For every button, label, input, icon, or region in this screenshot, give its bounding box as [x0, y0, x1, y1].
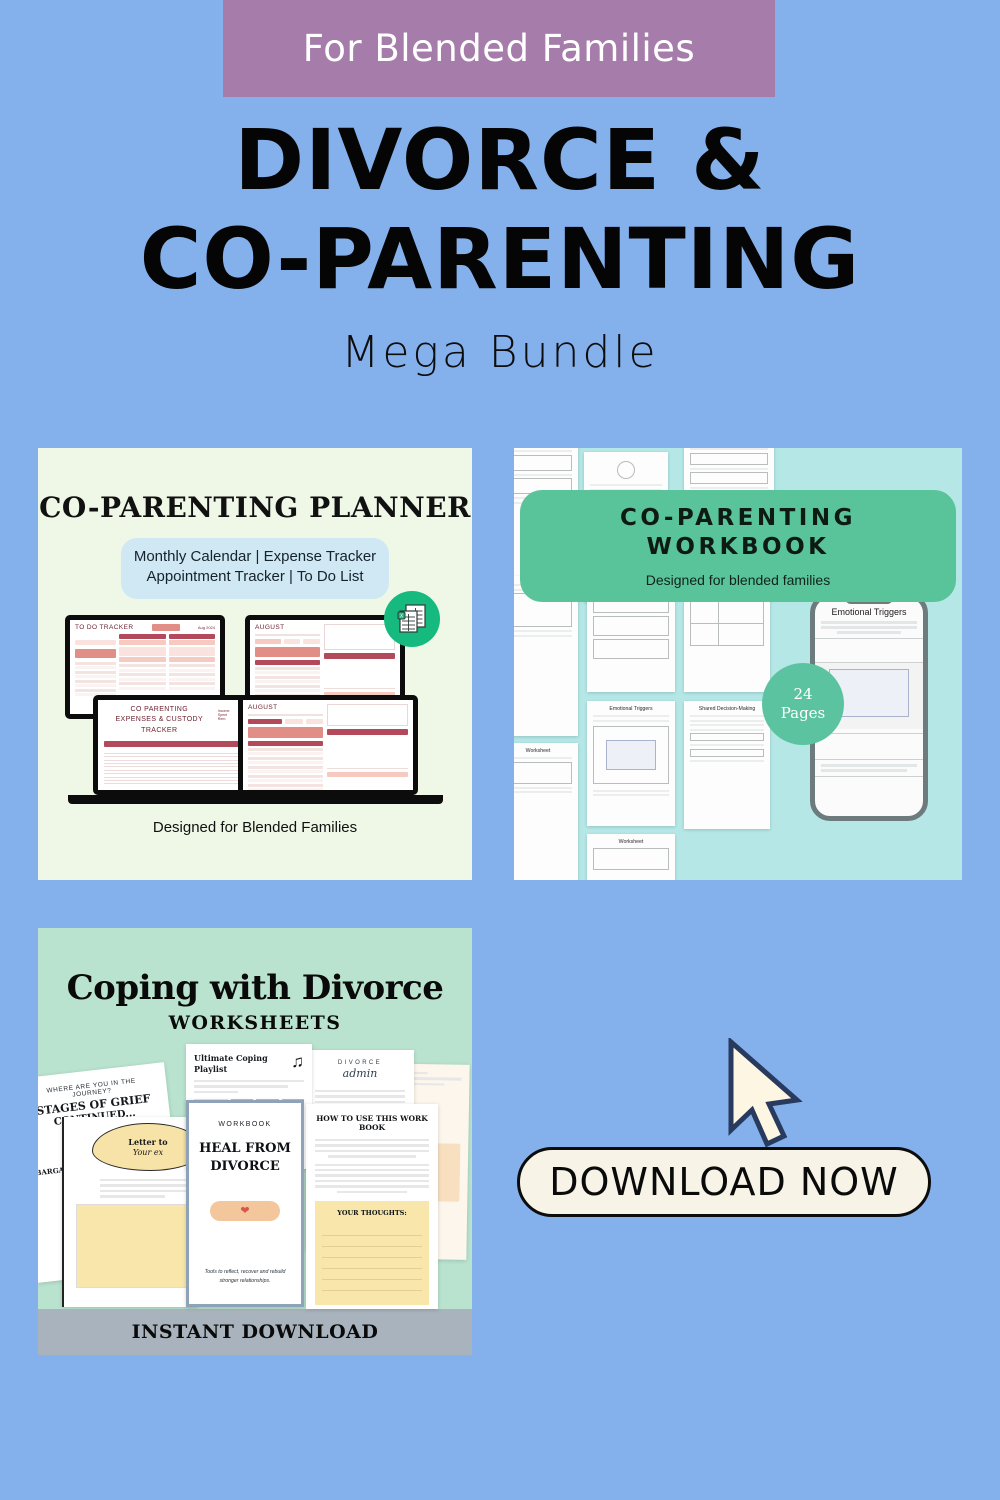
worksheet-page-shared-decision-making: Shared Decision-Making	[684, 701, 770, 829]
workbook-title: CO-PARENTING WORKBOOK	[620, 504, 856, 562]
coping-page-letter-to-your-ex: Letter to Your ex	[62, 1117, 198, 1307]
expense-tracker-heading: CO PARENTINGEXPENSES & CUSTODYTRACKER	[104, 705, 215, 737]
workbook-banner: CO-PARENTING WORKBOOK Designed for blend…	[520, 490, 956, 602]
product-card-planner[interactable]: CO-PARENTING PLANNER Monthly Calendar | …	[38, 448, 472, 880]
coping-footer-badge: INSTANT DOWNLOAD	[38, 1309, 472, 1355]
playlist-title-line-1: Ultimate Coping	[194, 1053, 268, 1063]
product-card-workbook[interactable]: Active Listening Emotional Triggers Work…	[514, 448, 962, 880]
title-line-2: CO-PARENTING	[0, 219, 1000, 300]
admin-title-line-1: DIVORCE	[315, 1060, 405, 1066]
planner-title: CO-PARENTING PLANNER	[38, 491, 472, 524]
page-title-shared-decision: Shared Decision-Making	[690, 706, 764, 712]
download-cta[interactable]: DOWNLOAD NOW	[517, 1147, 931, 1217]
workbook-title-line-2: WORKBOOK	[647, 534, 830, 560]
planner-feature-pill: Monthly Calendar | Expense Tracker Appoi…	[121, 538, 389, 599]
coping-sheet-stack: DIVORCE admin WHERE ARE YOU IN THE JOURN…	[38, 1042, 472, 1307]
eyebrow-banner: For Blended Families	[223, 0, 775, 97]
heal-tagline-line-1: Tools to reflect, recover and rebuild	[205, 1269, 286, 1275]
product-card-coping[interactable]: Coping with Divorce WORKSHEETS DIVORCE a…	[38, 928, 472, 1355]
coping-title: Coping with Divorce	[38, 968, 472, 1008]
pages-badge-label: Pages	[781, 704, 826, 723]
eyebrow-text: For Blended Families	[303, 27, 695, 70]
music-note-icon: ♫	[291, 1053, 304, 1070]
letter-cloud-line-2: Your ex	[133, 1148, 163, 1157]
page-title-worksheet: Worksheet	[514, 748, 572, 754]
worksheet-page: Worksheet	[514, 743, 578, 880]
laptop-base	[213, 795, 443, 804]
planner-feature-line-1: Monthly Calendar | Expense Tracker	[131, 547, 379, 567]
laptop-mockup-august-calendar-bottom: AUGUST	[238, 695, 418, 795]
letter-cloud: Letter to Your ex	[92, 1123, 198, 1171]
planner-feature-line-2: Appointment Tracker | To Do List	[131, 567, 379, 587]
worksheet-page-emotional-triggers: Emotional Triggers	[587, 701, 675, 826]
workbook-title-line-1: CO-PARENTING	[620, 505, 856, 531]
pages-count-badge: 24 Pages	[762, 663, 844, 745]
pages-badge-number: 24	[793, 685, 812, 704]
playlist-title-line-2: Playlist	[194, 1064, 268, 1074]
heal-title-line-2: DIVORCE	[210, 1159, 280, 1174]
cursor-arrow-icon	[725, 1038, 805, 1159]
todo-tracker-heading: TO DO TRACKER	[75, 624, 133, 631]
howto-title: HOW TO USE THIS WORK BOOK	[315, 1114, 429, 1132]
promo-page: For Blended Families DIVORCE & CO-PARENT…	[0, 0, 1000, 1500]
workbook-kicker: WORKBOOK	[199, 1121, 291, 1128]
coping-subtitle: WORKSHEETS	[38, 1012, 472, 1034]
title-line-1: DIVORCE &	[0, 120, 1000, 201]
page-title: DIVORCE & CO-PARENTING Mega Bundle	[0, 120, 1000, 378]
page-title-emotional-triggers: Emotional Triggers	[593, 706, 669, 712]
page-title-worksheet: Worksheet	[593, 839, 669, 845]
heal-title-line-1: HEAL FROM	[199, 1141, 291, 1156]
coping-page-how-to-use: HOW TO USE THIS WORK BOOK YOUR THOUGHTS:	[306, 1104, 438, 1309]
planner-footer: Designed for Blended Families	[38, 819, 472, 836]
phone-screen-title: Emotional Triggers	[815, 607, 923, 617]
worksheet-page: Worksheet	[587, 834, 675, 880]
spreadsheet-icon: X	[384, 591, 440, 647]
workbook-subtitle: Designed for blended families	[646, 572, 830, 588]
download-now-button[interactable]: DOWNLOAD NOW	[517, 1147, 931, 1217]
page-subtitle: Mega Bundle	[0, 327, 1000, 378]
thoughts-title: YOUR THOUGHTS:	[322, 1209, 422, 1217]
letter-cloud-line-1: Letter to	[128, 1137, 167, 1147]
bandage-icon: ❤	[210, 1201, 280, 1221]
heal-tagline-line-2: stronger relationships.	[219, 1278, 270, 1284]
coping-page-heal-from-divorce: WORKBOOK HEAL FROM DIVORCE ❤ Tools to re…	[186, 1100, 304, 1307]
screen-august-calendar-bottom: AUGUST	[243, 700, 413, 790]
admin-title-line-2: admin	[315, 1067, 405, 1080]
